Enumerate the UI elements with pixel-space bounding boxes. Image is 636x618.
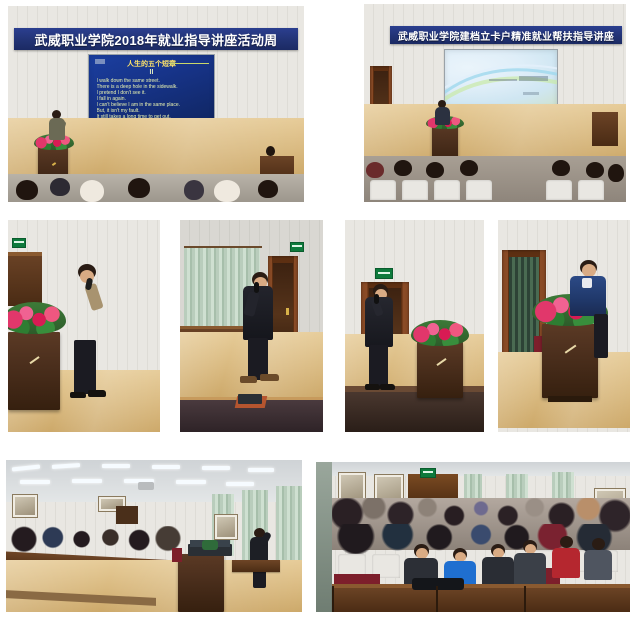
photo-speaker-dark-suit-stage[interactable] [180,220,323,432]
slide-title: 人生的五个短章 [89,59,214,69]
flower-arrangement-icon [411,320,469,346]
wall-picture [214,514,238,540]
podium [8,332,60,410]
speaker-figure [363,284,403,394]
podium [178,554,224,612]
slide-body: I walk down the same street. There is a … [97,78,210,120]
podium [417,342,463,398]
wooden-cabinet [8,252,42,306]
exit-sign-icon [12,238,26,248]
speaker-figure [570,260,612,360]
photo-audience-seated-closeup[interactable] [316,462,630,612]
exit-sign-icon [375,268,393,279]
speaker-figure [240,272,286,392]
banner-2018: 武威职业学院2018年就业指导讲座活动周 [14,28,298,50]
window-curtain [276,486,302,568]
microphone-icon [254,282,259,293]
banner-precision-employment: 武威职业学院建档立卡户精准就业帮扶指导讲座 [390,26,622,44]
projector-screen: 人生的五个短章 II I walk down the same street. … [88,54,215,124]
microphone-icon [374,294,379,304]
photo-lecture-hall-banner-2018[interactable]: 武威职业学院2018年就业指导讲座活动周 人生的五个短章 II I walk d… [8,6,304,202]
photo-speaker-beige-coat[interactable] [8,220,160,432]
photo-collage: 武威职业学院2018年就业指导讲座活动周 人生的五个短章 II I walk d… [0,0,636,618]
banner-text: 武威职业学院建档立卡户精准就业帮扶指导讲座 [398,28,614,43]
audience-member [552,536,582,584]
slide-section: II [89,69,214,76]
exit-sign-icon [420,468,436,478]
speaker-figure [64,264,114,404]
speaker-figure [434,100,452,130]
projector-screen [444,49,558,109]
audience-member [584,538,614,586]
photo-speaker-beside-podium[interactable] [345,220,484,432]
photo-speaker-navy-sweater-podium[interactable] [498,220,630,432]
photo-lecture-hall-banner-precision-employment[interactable]: 武威职业学院建档立卡户精准就业帮扶指导讲座 [364,4,626,202]
speaker-figure [246,528,274,590]
exit-sign-icon [290,242,304,252]
photo-audience-wide-view-with-speaker[interactable] [6,460,302,612]
speaker-figure [46,110,68,150]
banner-text: 武威职业学院2018年就业指导讲座活动周 [35,30,278,49]
